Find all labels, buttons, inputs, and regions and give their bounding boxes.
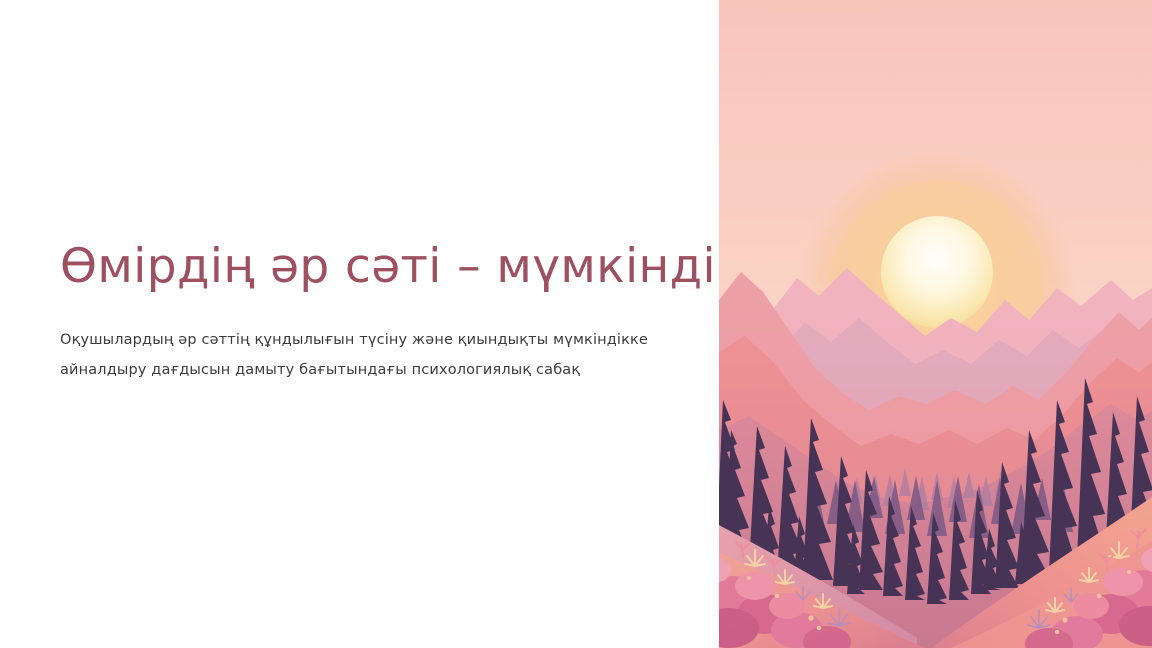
slide-subtitle: Оқушылардың әр сәттің құндылығын түсіну … — [60, 326, 660, 385]
page-title: Өмірдің әр сәті – мүмкіндік — [60, 238, 710, 296]
illustration-panel — [719, 0, 1152, 648]
presentation-slide: Өмірдің әр сәті – мүмкіндік Оқушылардың … — [0, 0, 1152, 648]
light-wash — [719, 0, 1152, 648]
text-panel: Өмірдің әр сәті – мүмкіндік Оқушылардың … — [0, 0, 719, 648]
sunset-mountain-forest-image — [719, 0, 1152, 648]
